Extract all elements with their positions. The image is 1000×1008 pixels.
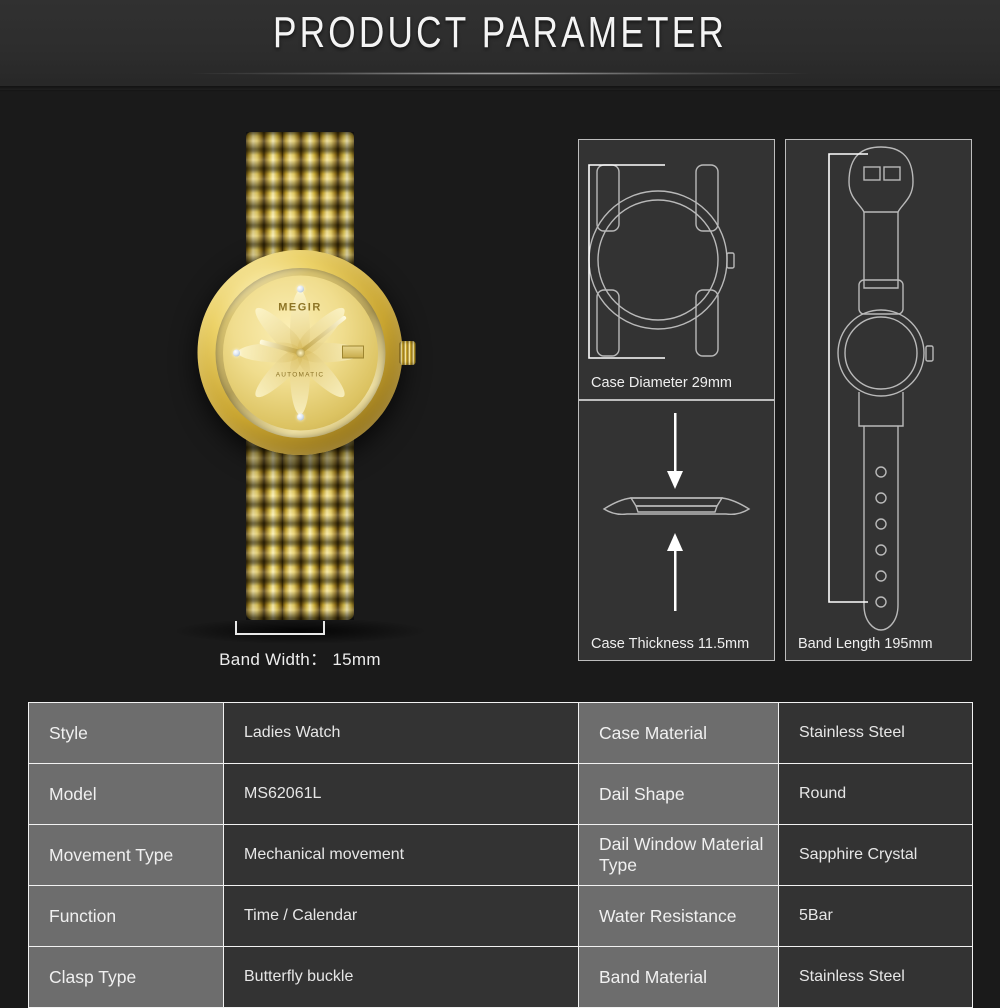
spec-value: Stainless Steel bbox=[779, 947, 973, 1008]
case-thickness-label: Case Thickness 11.5mm bbox=[591, 636, 749, 652]
page-header: PRODUCT PARAMETER bbox=[0, 0, 1000, 90]
band-width-label: Band Width： 15mm bbox=[120, 645, 480, 670]
diagram-band-length: Band Length 195mm bbox=[785, 139, 972, 661]
bracelet-lower bbox=[246, 430, 354, 620]
spec-value: Sapphire Crystal bbox=[779, 825, 973, 886]
spec-label: Dail Window Material Type bbox=[579, 825, 779, 886]
spec-label: Water Resistance bbox=[579, 886, 779, 947]
product-photo: MEGIR AUTOMATIC bbox=[120, 120, 480, 680]
dial-automatic-text: AUTOMATIC bbox=[223, 371, 378, 378]
case-thickness-drawing bbox=[579, 401, 774, 660]
page-title: PRODUCT PARAMETER bbox=[100, 8, 900, 58]
band-length-label: Band Length 195mm bbox=[798, 636, 933, 652]
hour-marker-gem bbox=[297, 413, 304, 420]
spec-value: Ladies Watch bbox=[224, 703, 579, 764]
spec-value: Time / Calendar bbox=[224, 886, 579, 947]
spec-label: Band Material bbox=[579, 947, 779, 1008]
table-row: Clasp Type Butterfly buckle Band Materia… bbox=[29, 947, 973, 1008]
case-diameter-label: Case Diameter 29mm bbox=[591, 375, 732, 391]
spec-label: Style bbox=[29, 703, 224, 764]
spec-value: Stainless Steel bbox=[779, 703, 973, 764]
watch-case: MEGIR AUTOMATIC bbox=[198, 250, 403, 455]
spec-value: 5Bar bbox=[779, 886, 973, 947]
spec-label: Model bbox=[29, 764, 224, 825]
table-row: Function Time / Calendar Water Resistanc… bbox=[29, 886, 973, 947]
watch-bezel: MEGIR AUTOMATIC bbox=[215, 268, 385, 438]
hour-marker-gem bbox=[233, 349, 240, 356]
dial-center-pin bbox=[296, 348, 305, 357]
spec-label: Clasp Type bbox=[29, 947, 224, 1008]
band-width-caliper bbox=[235, 621, 325, 635]
date-window bbox=[342, 346, 364, 359]
dial-brand-text: MEGIR bbox=[223, 301, 378, 313]
table-row: Model MS62061L Dail Shape Round bbox=[29, 764, 973, 825]
header-divider bbox=[190, 72, 810, 75]
watch-crown-icon bbox=[400, 341, 416, 365]
watch-dial: MEGIR AUTOMATIC bbox=[223, 275, 378, 430]
spec-value: MS62061L bbox=[224, 764, 579, 825]
hour-marker-gem bbox=[297, 285, 304, 292]
table-row: Style Ladies Watch Case Material Stainle… bbox=[29, 703, 973, 764]
spec-label: Case Material bbox=[579, 703, 779, 764]
spec-value: Butterfly buckle bbox=[224, 947, 579, 1008]
table-row: Movement Type Mechanical movement Dail W… bbox=[29, 825, 973, 886]
spec-label: Function bbox=[29, 886, 224, 947]
diagram-case-thickness: Case Thickness 11.5mm bbox=[578, 400, 775, 661]
spec-label: Movement Type bbox=[29, 825, 224, 886]
header-shadow bbox=[0, 86, 1000, 92]
diagram-case-diameter: Case Diameter 29mm bbox=[578, 139, 775, 400]
case-diameter-drawing bbox=[579, 140, 774, 399]
band-length-drawing bbox=[786, 140, 971, 660]
spec-table: Style Ladies Watch Case Material Stainle… bbox=[28, 702, 973, 1008]
spec-value: Round bbox=[779, 764, 973, 825]
spec-label: Dail Shape bbox=[579, 764, 779, 825]
spec-value: Mechanical movement bbox=[224, 825, 579, 886]
